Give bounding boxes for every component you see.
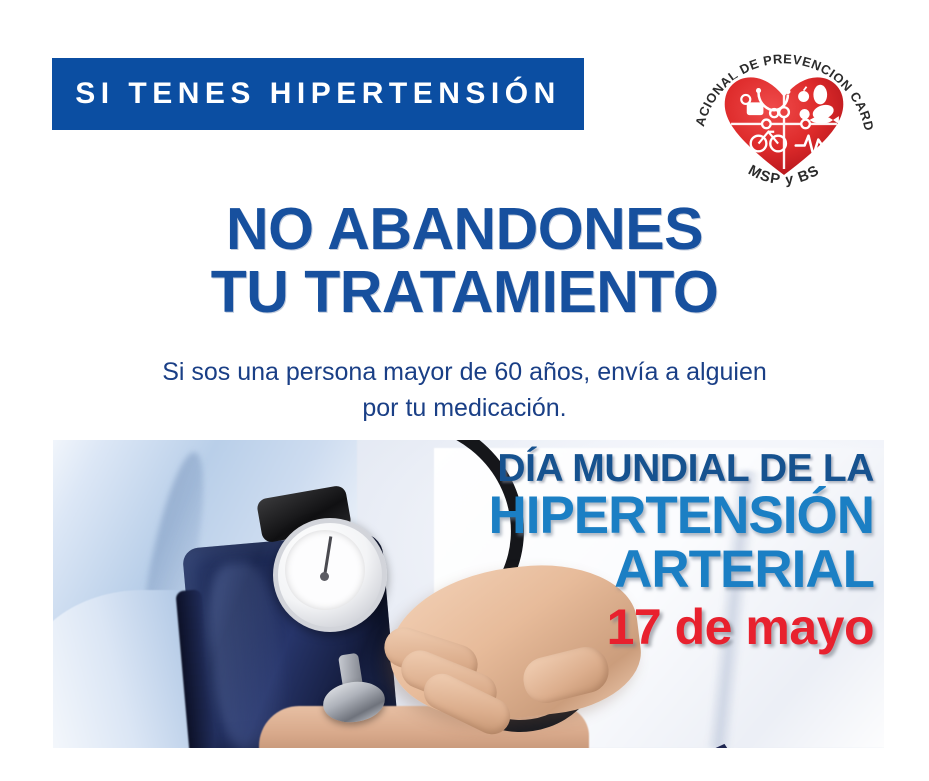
poster-canvas: SI TENES HIPERTENSIÓN PROGRAMA NACIONAL … [0, 0, 929, 781]
headline-line-1: NO ABANDONES [0, 198, 929, 261]
page-title: NO ABANDONES TU TRATAMIENTO [0, 198, 929, 324]
cardiovascular-program-logo: PROGRAMA NACIONAL DE PREVENCION CARDIOVA… [686, 22, 882, 218]
kicker-banner: SI TENES HIPERTENSIÓN [52, 58, 584, 130]
banner-line-2: HIPERTENSIÓN [394, 489, 874, 543]
banner-date: 17 de mayo [394, 597, 874, 658]
world-hypertension-day-text: DÍA MUNDIAL DE LA HIPERTENSIÓN ARTERIAL … [394, 448, 874, 658]
subtitle-line-1: Si sos una persona mayor de 60 años, env… [0, 355, 929, 391]
headline-line-2: TU TRATAMIENTO [0, 261, 929, 324]
banner-line-3: ARTERIAL [394, 543, 874, 597]
kicker-label: SI TENES HIPERTENSIÓN [75, 77, 561, 111]
banner-line-1: DÍA MUNDIAL DE LA [394, 448, 874, 489]
subtitle: Si sos una persona mayor de 60 años, env… [0, 355, 929, 426]
pressure-gauge-hub [320, 572, 329, 581]
blood-pressure-measurement-photo: DÍA MUNDIAL DE LA HIPERTENSIÓN ARTERIAL … [53, 440, 884, 748]
subtitle-line-2: por tu medicación. [0, 391, 929, 427]
